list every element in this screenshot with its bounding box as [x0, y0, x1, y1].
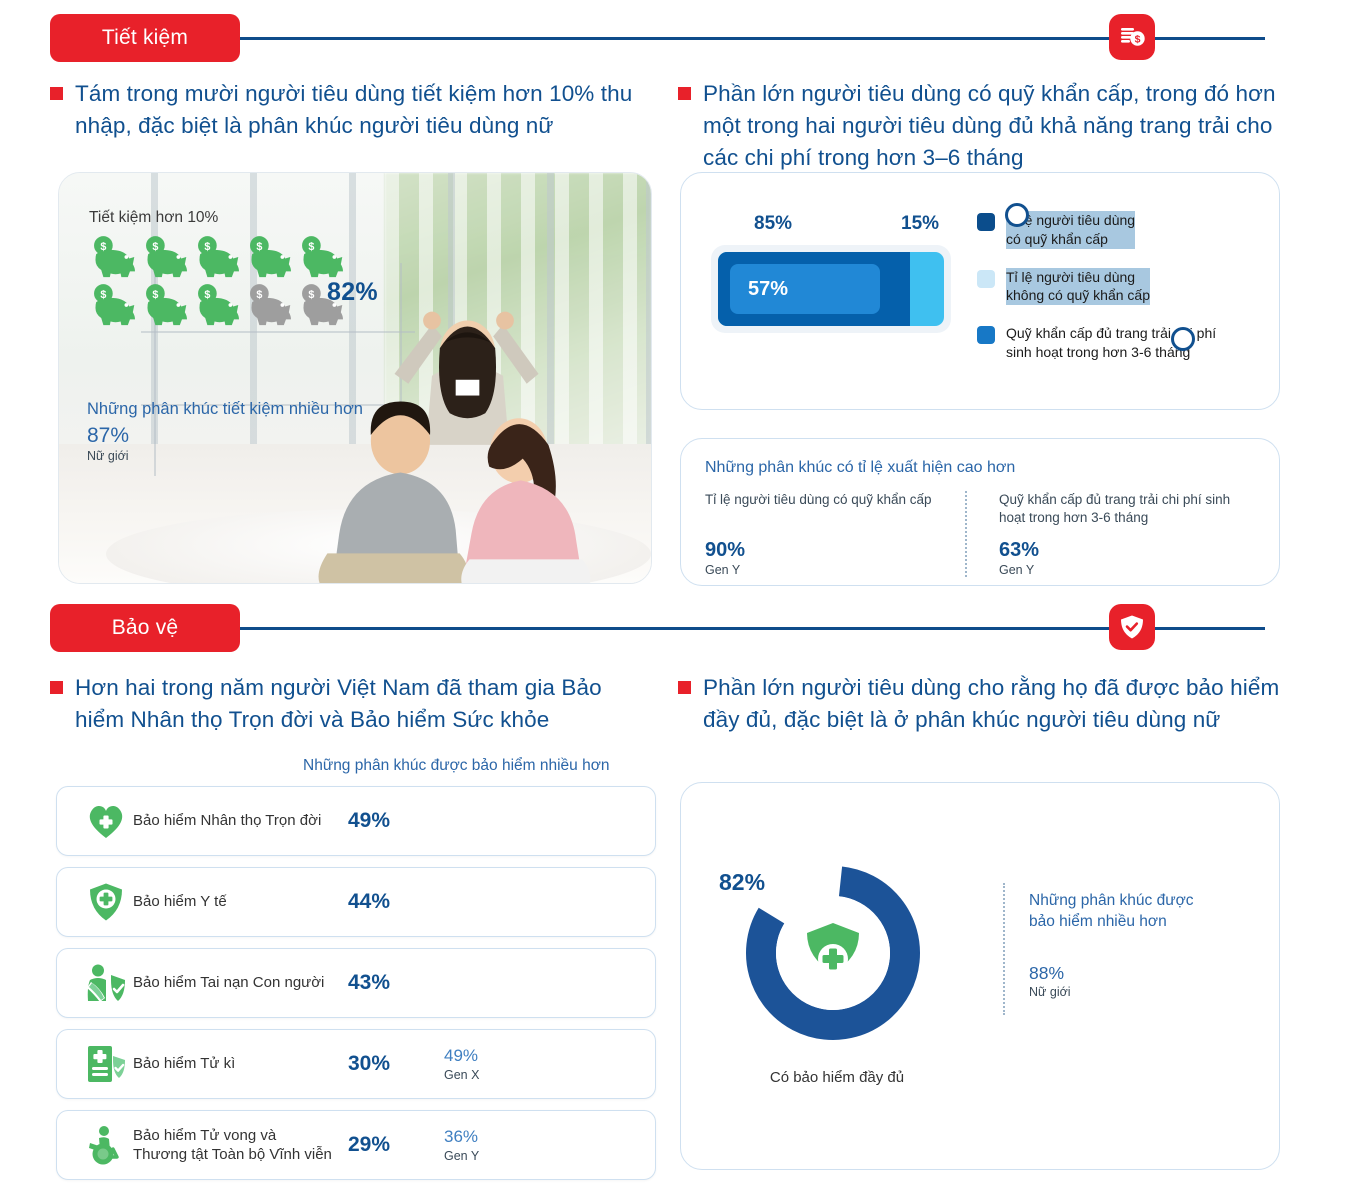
headline-protection-right: Phần lớn người tiêu dùng cho rằng họ đã … [678, 672, 1303, 736]
coverage-donut-chart [743, 863, 923, 1043]
bullet-square-icon [50, 87, 63, 100]
legend-label: Tỉ lệ người tiêu dùngkhông có quỹ khẩn c… [1006, 268, 1150, 306]
insurance-extra-value: 36% [444, 1127, 478, 1146]
money-stack-icon: $ [1109, 14, 1155, 60]
emergency-bar-chart: 57% [711, 245, 951, 333]
svg-text:$: $ [152, 289, 158, 301]
insurance-name: Bảo hiểm Tử vong vàThương tật Toàn bộ Vĩ… [133, 1126, 348, 1164]
insurance-percent: 30% [348, 1052, 444, 1076]
savings-segment-title: Những phân khúc tiết kiệm nhiều hơn [87, 400, 363, 419]
segment-group: Gen Y [999, 563, 1241, 577]
headline-savings-right: Phần lớn người tiêu dùng có quỹ khẩn cấp… [678, 78, 1298, 175]
svg-text:$: $ [1135, 33, 1141, 45]
bullet-square-icon [678, 681, 691, 694]
insurance-percent: 49% [348, 809, 444, 833]
segment-group: Gen Y [705, 563, 947, 577]
headline-text: Hơn hai trong năm người Việt Nam đã tham… [75, 672, 650, 736]
legend-swatch [977, 270, 995, 288]
insurance-extra-group: Gen Y [444, 1149, 479, 1163]
coverage-segments-title: Những phân khúc đượcbảo hiểm nhiều hơn [1029, 891, 1243, 933]
list-item[interactable]: Bảo hiểm Tử vong vàThương tật Toàn bộ Vĩ… [56, 1110, 656, 1180]
insurance-percent: 43% [348, 971, 444, 995]
bar-label-have-fund: 85% [754, 213, 792, 235]
segment-value: 63% [999, 539, 1241, 562]
coverage-donut-panel: 82% Có bảo hiểm đầy đủ Những phân khúc đ… [680, 782, 1280, 1170]
savings-photo-card: Tiết kiệm hơn 10% $ $ $ $ $ $ $ $ $ $ 82… [58, 172, 652, 584]
section-tag-protection: Bảo vệ [50, 604, 240, 652]
emergency-fund-panel: 85% 15% 57% Tỉ lệ người tiêu dùngcó quỹ … [680, 172, 1280, 410]
svg-text:$: $ [152, 241, 158, 253]
text-selection-handle-end-icon[interactable] [1171, 327, 1195, 351]
shield-plus-icon [79, 882, 133, 922]
piggy-bank-icon: $ [89, 235, 135, 279]
headline-text: Phần lớn người tiêu dùng có quỹ khẩn cấp… [703, 78, 1298, 175]
insurance-name: Bảo hiểm Tai nạn Con người [133, 973, 348, 992]
savings-big-percent: 82% [327, 278, 378, 307]
bullet-square-icon [678, 87, 691, 100]
piggy-bank-icon: $ [245, 235, 291, 279]
savings-segment-value: 87% [87, 424, 129, 448]
svg-text:$: $ [100, 289, 106, 301]
coverage-segments-value: 88% [1029, 963, 1243, 984]
piggy-bank-icon: $ [193, 283, 239, 327]
svg-text:$: $ [204, 241, 210, 253]
segment-label: Tỉ lệ người tiêu dùng có quỹ khẩn cấp [705, 491, 947, 527]
piggy-bank-icon: $ [297, 235, 343, 279]
emergency-segments-panel: Những phân khúc có tỉ lệ xuất hiện cao h… [680, 438, 1280, 586]
legend-swatch [977, 326, 995, 344]
segment-column: Tỉ lệ người tiêu dùng có quỹ khẩn cấp 90… [705, 491, 965, 577]
headline-text: Tám trong mười người tiêu dùng tiết kiệm… [75, 78, 650, 142]
piggy-bank-pictogram: $ $ $ $ $ $ $ $ $ $ [89, 235, 349, 331]
segment-value: 90% [705, 539, 947, 562]
svg-text:$: $ [100, 241, 106, 253]
bar-track: 57% [718, 252, 944, 326]
svg-text:$: $ [256, 241, 262, 253]
piggy-bank-icon: $ [141, 283, 187, 327]
headline-protection-left: Hơn hai trong năm người Việt Nam đã tham… [50, 672, 650, 736]
coverage-segments: Những phân khúc đượcbảo hiểm nhiều hơn 8… [1003, 891, 1243, 999]
segments-columns: Tỉ lệ người tiêu dùng có quỹ khẩn cấp 90… [705, 491, 1259, 577]
legend-item: Quỹ khẩn cấp đủ trang trải chi phísinh h… [977, 324, 1267, 362]
segment-column: Quỹ khẩn cấp đủ trang trải chi phí sinh … [965, 491, 1259, 577]
savings-overlay-title: Tiết kiệm hơn 10% [89, 209, 218, 227]
piggy-bank-icon: $ [141, 235, 187, 279]
insurance-name: Bảo hiểm Y tế [133, 892, 348, 911]
insurance-extra-value: 49% [444, 1046, 478, 1065]
piggy-bank-icon: $ [193, 235, 239, 279]
insurance-extra-group: Gen X [444, 1068, 479, 1082]
insurance-list-caption: Những phân khúc được bảo hiểm nhiều hơn [303, 757, 610, 775]
emergency-legend: Tỉ lệ người tiêu dùngcó quỹ khẩn cấp Tỉ … [977, 211, 1267, 381]
svg-text:$: $ [204, 289, 210, 301]
savings-segment-group: Nữ giới [87, 449, 129, 463]
photo-overlay: Tiết kiệm hơn 10% $ $ $ $ $ $ $ $ $ $ 82… [59, 173, 651, 583]
bar-label-no-fund: 15% [901, 213, 939, 235]
piggy-bank-icon: $ [89, 283, 135, 327]
coverage-donut-caption: Có bảo hiểm đầy đủ [737, 1069, 937, 1086]
piggy-bank-icon-inactive: $ [245, 283, 291, 327]
donut-svg [743, 863, 923, 1043]
insurance-extra: 49%Gen X [444, 1046, 479, 1081]
heart-plus-icon [79, 802, 133, 840]
legend-item: Tỉ lệ người tiêu dùngkhông có quỹ khẩn c… [977, 268, 1267, 306]
svg-text:$: $ [308, 241, 314, 253]
insurance-percent: 44% [348, 890, 444, 914]
bullet-square-icon [50, 681, 63, 694]
document-shield-icon [79, 1044, 133, 1084]
svg-text:$: $ [256, 289, 262, 301]
list-item[interactable]: Bảo hiểm Tai nạn Con người 43% [56, 948, 656, 1018]
segment-label: Quỹ khẩn cấp đủ trang trải chi phí sinh … [999, 491, 1241, 527]
text-selection-handle-start-icon[interactable] [1005, 203, 1029, 227]
coverage-segments-group: Nữ giới [1029, 985, 1243, 999]
infographic-page: Tiết kiệm $ Tám trong mười người tiêu dù… [0, 0, 1350, 1200]
insurance-percent: 29% [348, 1133, 444, 1157]
insurance-name: Bảo hiểm Nhân thọ Trọn đời [133, 811, 348, 830]
list-item[interactable]: Bảo hiểm Y tế 44% [56, 867, 656, 937]
shield-check-icon [1109, 604, 1155, 650]
bar-inset-57: 57% [730, 264, 880, 314]
svg-text:$: $ [308, 289, 314, 301]
headline-savings-left: Tám trong mười người tiêu dùng tiết kiệm… [50, 78, 650, 142]
list-item[interactable]: Bảo hiểm Tử kì 30% 49%Gen X [56, 1029, 656, 1099]
segments-title: Những phân khúc có tỉ lệ xuất hiện cao h… [705, 459, 1015, 477]
insurance-name: Bảo hiểm Tử kì [133, 1054, 348, 1073]
legend-swatch [977, 213, 995, 231]
headline-text: Phần lớn người tiêu dùng cho rằng họ đã … [703, 672, 1303, 736]
injured-person-icon [79, 963, 133, 1003]
section-tag-savings: Tiết kiệm [50, 14, 240, 62]
coverage-donut-percent: 82% [719, 869, 765, 896]
insurance-extra: 36%Gen Y [444, 1127, 479, 1162]
wheelchair-icon [79, 1125, 133, 1165]
list-item[interactable]: Bảo hiểm Nhân thọ Trọn đời 49% [56, 786, 656, 856]
